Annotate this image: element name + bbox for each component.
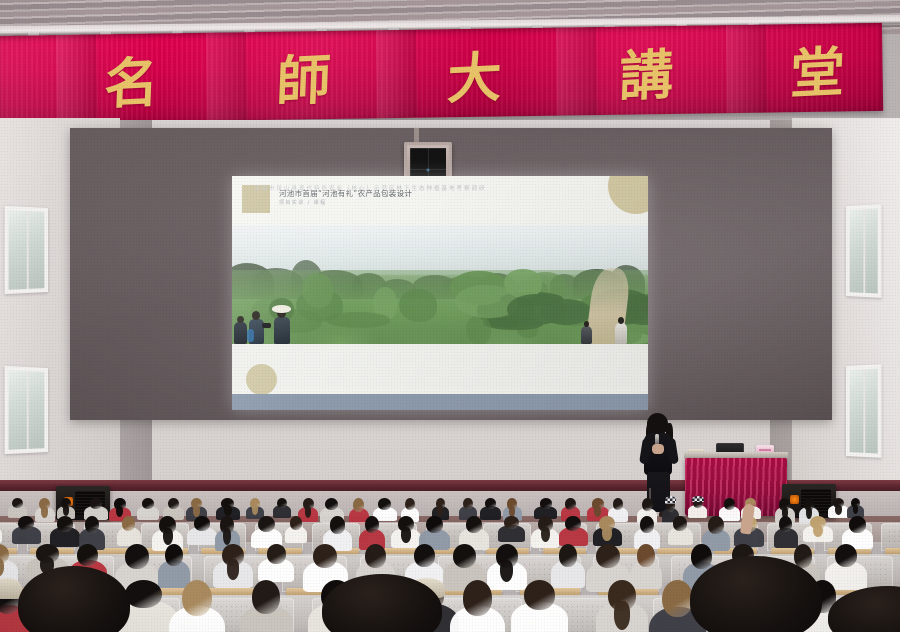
banner-text: 名 師 大 講 堂 — [104, 25, 845, 120]
banner-char-3: 大 — [446, 32, 503, 114]
banner-char-2: 師 — [275, 35, 332, 117]
slide-caption-band — [232, 344, 648, 388]
banner-char-5: 堂 — [789, 27, 846, 109]
presentation-slide: 河池市首届“河池有礼”农产品包装设计 项目实训 / 课程 河池市凤山县现代特色农… — [232, 176, 648, 410]
window-right-lower — [846, 364, 882, 458]
audience — [0, 496, 900, 632]
lecture-hall-photo: 名 師 大 講 堂 河池市首届“河池有礼”农产品包装设计 项目实训 / 课程 — [0, 0, 900, 632]
event-banner: 名 師 大 講 堂 — [0, 23, 883, 124]
slide-photo — [232, 225, 648, 344]
window-right-upper — [846, 204, 882, 298]
banner-char-1: 名 — [103, 37, 160, 119]
presenter-hands — [652, 444, 664, 454]
slide-accent-circle-bottom — [246, 364, 277, 395]
window-left-upper — [5, 206, 48, 294]
presenter-hair — [647, 413, 668, 434]
banner-char-4: 講 — [618, 30, 675, 112]
window-left-lower — [5, 366, 48, 454]
slide-footer-band — [232, 394, 648, 410]
slide-subtitle: 项目实训 / 课程 — [279, 199, 326, 206]
slide-caption: 河池市凤山县现代特色农业（核心）示范区林下生态种植基地考察调研 — [254, 184, 487, 192]
